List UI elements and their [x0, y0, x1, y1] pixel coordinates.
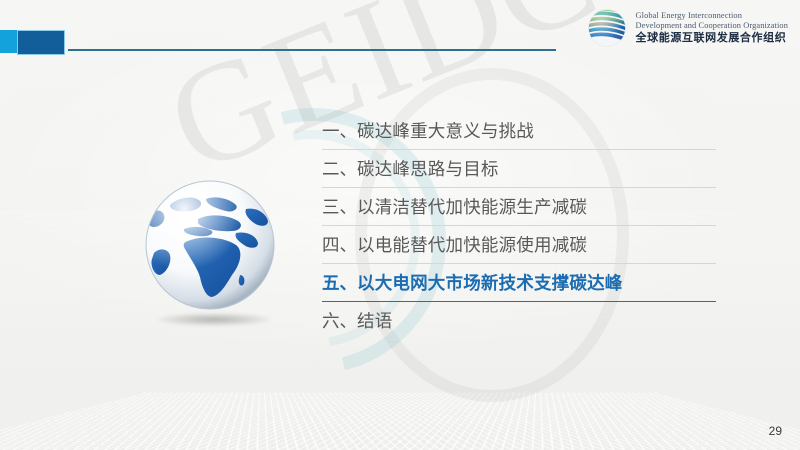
globe-illustration	[140, 175, 290, 340]
agenda-item-4[interactable]: 四、 以电能替代加快能源使用减碳	[322, 226, 716, 264]
page-number: 29	[769, 424, 782, 438]
agenda-item-2-number: 二、	[322, 156, 357, 181]
brand-english-line-1: Global Energy Interconnection	[636, 11, 788, 21]
agenda-item-2[interactable]: 二、 碳达峰思路与目标	[322, 150, 716, 188]
agenda-item-2-label: 碳达峰思路与目标	[357, 156, 499, 181]
agenda-item-1-number: 一、	[322, 118, 357, 143]
agenda-item-3[interactable]: 三、 以清洁替代加快能源生产减碳	[322, 188, 716, 226]
brand-lockup: Global Energy Interconnection Developmen…	[585, 6, 788, 50]
agenda-item-1-label: 碳达峰重大意义与挑战	[357, 118, 534, 143]
globe-drop-shadow	[158, 313, 270, 326]
agenda-item-4-number: 四、	[322, 232, 357, 257]
agenda-item-5-number: 五、	[322, 270, 357, 295]
agenda-item-3-number: 三、	[322, 194, 357, 219]
agenda-item-6[interactable]: 六、 结语	[322, 302, 716, 339]
agenda-item-5-label: 以大电网大市场新技术支撑碳达峰	[357, 270, 623, 295]
brand-english-line-2: Development and Cooperation Organization	[636, 21, 788, 31]
agenda-list: 一、 碳达峰重大意义与挑战 二、 碳达峰思路与目标 三、 以清洁替代加快能源生产…	[322, 112, 716, 339]
agenda-item-1[interactable]: 一、 碳达峰重大意义与挑战	[322, 112, 716, 150]
agenda-item-5-active[interactable]: 五、 以大电网大市场新技术支撑碳达峰	[322, 264, 716, 302]
agenda-item-4-label: 以电能替代加快能源使用减碳	[357, 232, 587, 257]
brand-chinese-name: 全球能源互联网发展合作组织	[636, 32, 788, 45]
brand-text-block: Global Energy Interconnection Developmen…	[636, 11, 788, 45]
header-decor-square-dark	[17, 30, 65, 55]
agenda-item-6-label: 结语	[357, 308, 392, 333]
geidco-globe-logo-icon	[585, 6, 629, 50]
header-rule	[68, 49, 556, 51]
presentation-slide: GEIDCO	[0, 0, 800, 450]
earth-globe-3d-icon	[140, 175, 280, 315]
agenda-item-6-number: 六、	[322, 308, 357, 333]
agenda-item-3-label: 以清洁替代加快能源生产减碳	[357, 194, 587, 219]
